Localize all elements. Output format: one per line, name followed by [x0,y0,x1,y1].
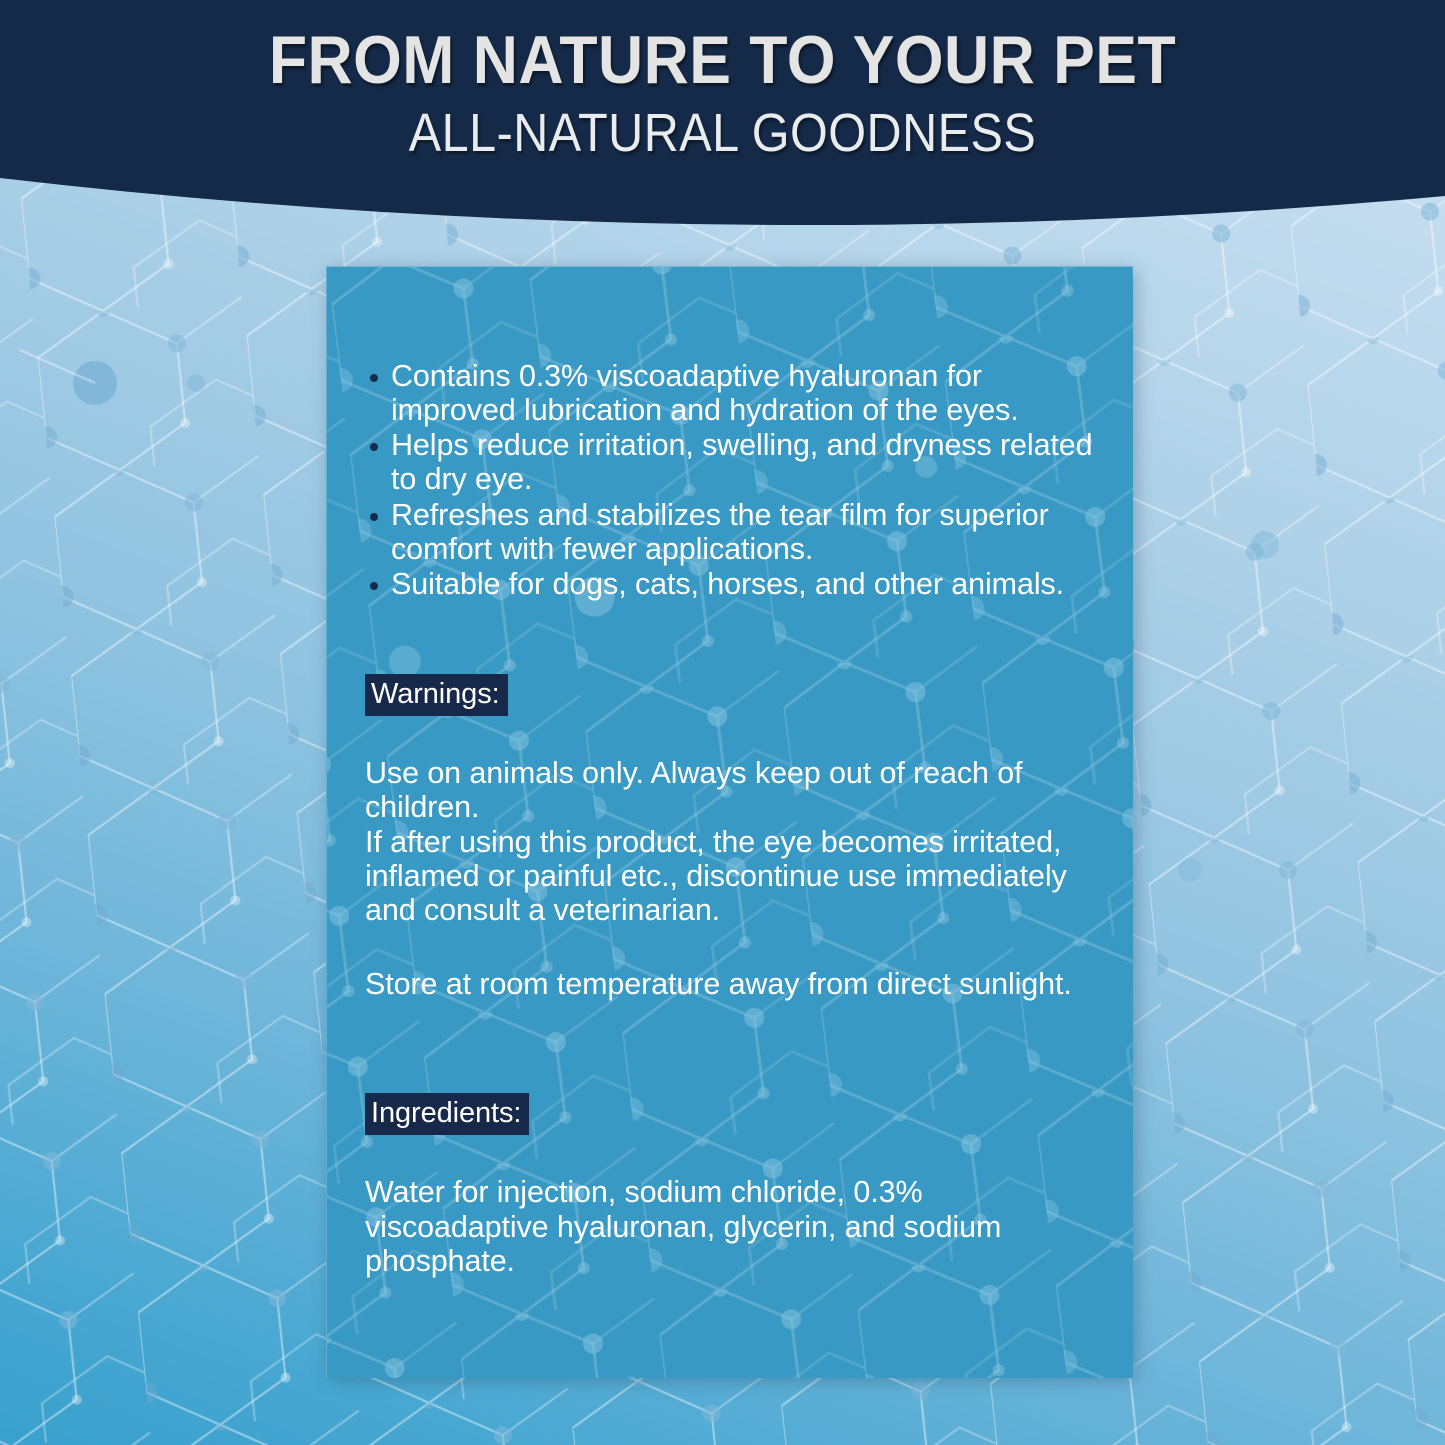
spacer [365,1135,1099,1175]
warnings-body: Use on animals only. Always keep out of … [365,756,1099,927]
product-info-graphic: FROM NATURE TO YOUR PET ALL-NATURAL GOOD… [0,0,1445,1445]
warnings-line-1: Use on animals only. Always keep out of … [365,756,1099,824]
list-item: Suitable for dogs, cats, horses, and oth… [365,567,1099,601]
warnings-line-2: If after using this product, the eye bec… [365,825,1099,893]
header-text-block: FROM NATURE TO YOUR PET ALL-NATURAL GOOD… [0,0,1445,160]
spacer [365,1001,1099,1093]
page-subtitle: ALL-NATURAL GOODNESS [72,106,1373,160]
spacer [365,927,1099,967]
warnings-heading: Warnings: [365,674,508,716]
storage-instructions: Store at room temperature away from dire… [365,967,1099,1001]
list-item: Contains 0.3% viscoadaptive hyaluronan f… [365,359,1099,427]
spacer [365,716,1099,756]
ingredients-heading: Ingredients: [365,1093,529,1135]
page-title: FROM NATURE TO YOUR PET [58,26,1387,94]
benefit-bullet-list: Contains 0.3% viscoadaptive hyaluronan f… [365,359,1099,601]
list-item: Refreshes and stabilizes the tear film f… [365,498,1099,566]
ingredients-section: Ingredients: Water for injection, sodium… [365,1093,1099,1278]
page-header: FROM NATURE TO YOUR PET ALL-NATURAL GOOD… [0,0,1445,260]
spacer [365,602,1099,674]
warnings-section: Warnings: Use on animals only. Always ke… [365,674,1099,1001]
panel-content: Contains 0.3% viscoadaptive hyaluronan f… [327,267,1133,1278]
ingredients-body: Water for injection, sodium chloride, 0.… [365,1175,1099,1277]
list-item: Helps reduce irritation, swelling, and d… [365,428,1099,496]
product-info-panel: Contains 0.3% viscoadaptive hyaluronan f… [326,266,1133,1378]
warnings-line-3: and consult a veterinarian. [365,893,1099,927]
